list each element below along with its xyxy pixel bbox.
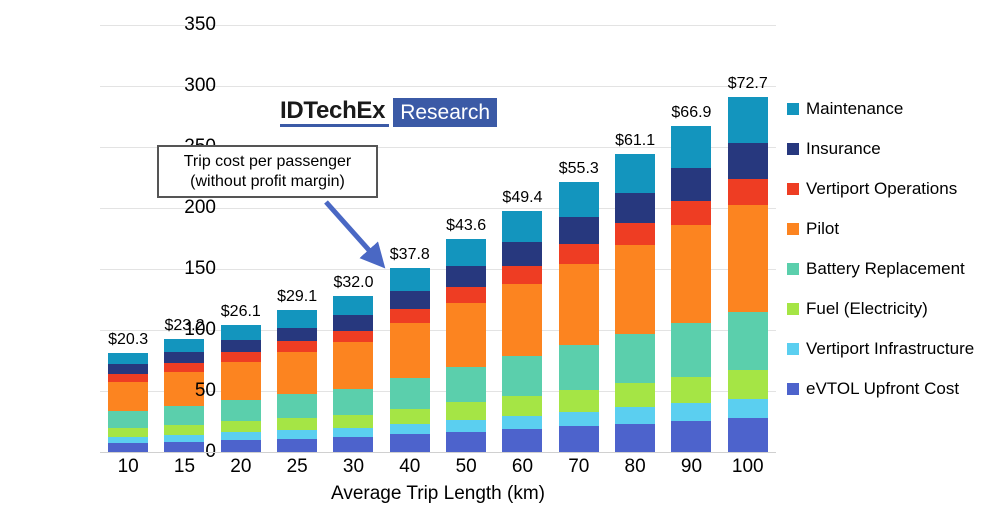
bar-segment[interactable]	[671, 377, 711, 403]
bar-segment[interactable]	[671, 168, 711, 201]
bar-segment[interactable]	[728, 143, 768, 179]
bar-column[interactable]: $55.3	[551, 25, 607, 452]
legend-swatch-icon	[787, 183, 799, 195]
bar-segment[interactable]	[728, 399, 768, 418]
stacked-bar[interactable]	[446, 239, 486, 452]
bar-segment[interactable]	[221, 352, 261, 362]
x-axis-tick-label: 50	[438, 456, 494, 478]
bar-segment[interactable]	[671, 403, 711, 421]
bar-segment[interactable]	[446, 303, 486, 367]
bar-segment[interactable]	[615, 407, 655, 423]
bar-segment[interactable]	[502, 416, 542, 429]
bar-column[interactable]: $26.1	[213, 25, 269, 452]
bar-segment[interactable]	[277, 310, 317, 327]
y-axis-tick-label: 50	[156, 380, 216, 402]
bar-value-label: $72.7	[708, 75, 788, 93]
bar-segment[interactable]	[390, 309, 430, 323]
bar-segment[interactable]	[108, 353, 148, 364]
stacked-bar[interactable]	[615, 154, 655, 452]
x-axis-tick-label: 20	[213, 456, 269, 478]
bar-segment[interactable]	[502, 396, 542, 416]
legend-item[interactable]: Battery Replacement	[787, 249, 1000, 289]
stacked-bar[interactable]	[502, 211, 542, 452]
x-axis-tick-label: 100	[720, 456, 776, 478]
y-axis-tick-label: 100	[156, 319, 216, 341]
bar-segment[interactable]	[390, 323, 430, 378]
bar-segment[interactable]	[728, 312, 768, 370]
legend-swatch-icon	[787, 223, 799, 235]
bar-segment[interactable]	[108, 411, 148, 428]
bar-segment[interactable]	[502, 356, 542, 396]
chart-legend: MaintenanceInsuranceVertiport Operations…	[787, 89, 1000, 409]
bar-segment[interactable]	[502, 266, 542, 284]
bar-segment[interactable]	[108, 364, 148, 374]
bar-segment[interactable]	[333, 437, 373, 452]
bar-column[interactable]: $49.4	[494, 25, 550, 452]
stacked-bar[interactable]	[277, 310, 317, 452]
legend-swatch-icon	[787, 143, 799, 155]
bar-segment[interactable]	[728, 179, 768, 205]
bar-segment[interactable]	[671, 201, 711, 225]
bar-segment[interactable]	[559, 264, 599, 345]
bar-segment[interactable]	[277, 394, 317, 418]
bar-segment[interactable]	[446, 287, 486, 303]
bar-segment[interactable]	[671, 126, 711, 168]
bar-segment[interactable]	[559, 217, 599, 244]
bar-segment[interactable]	[221, 400, 261, 421]
annotation-box: Trip cost per passenger (without profit …	[157, 145, 378, 198]
bar-segment[interactable]	[108, 382, 148, 412]
bar-segment[interactable]	[502, 211, 542, 242]
bar-segment[interactable]	[615, 245, 655, 334]
y-axis-tick-label: 350	[156, 14, 216, 36]
x-axis-tick-label: 80	[607, 456, 663, 478]
bar-segment[interactable]	[615, 154, 655, 193]
legend-swatch-icon	[787, 103, 799, 115]
legend-swatch-icon	[787, 303, 799, 315]
bar-segment[interactable]	[221, 362, 261, 400]
stacked-bar[interactable]	[333, 296, 373, 452]
x-axis-tick-label: 25	[269, 456, 325, 478]
bar-segment[interactable]	[502, 429, 542, 452]
bar-segment[interactable]	[615, 424, 655, 452]
bar-segment[interactable]	[671, 421, 711, 452]
x-axis-tick-label: 15	[156, 456, 212, 478]
bar-segment[interactable]	[728, 97, 768, 143]
y-axis-tick-label: 150	[156, 258, 216, 280]
bar-column[interactable]: $20.3	[100, 25, 156, 452]
x-axis-tick-label: 90	[663, 456, 719, 478]
bar-segment[interactable]	[277, 341, 317, 352]
y-axis-tick-label: 300	[156, 75, 216, 97]
bar-segment[interactable]	[221, 440, 261, 452]
x-axis-line	[100, 452, 776, 453]
legend-item[interactable]: Maintenance	[787, 89, 1000, 129]
bar-segment[interactable]	[390, 424, 430, 434]
bar-segment[interactable]	[333, 315, 373, 330]
bar-segment[interactable]	[615, 223, 655, 245]
bar-segment[interactable]	[446, 432, 486, 452]
legend-swatch-icon	[787, 263, 799, 275]
bar-segment[interactable]	[559, 390, 599, 412]
bar-segment[interactable]	[671, 225, 711, 323]
legend-label: Battery Replacement	[806, 259, 965, 279]
bar-segment[interactable]	[277, 430, 317, 438]
bar-segment[interactable]	[164, 352, 204, 363]
x-axis-tick-label: 30	[325, 456, 381, 478]
x-axis-title: Average Trip Length (km)	[100, 483, 776, 505]
bar-segment[interactable]	[108, 428, 148, 437]
annotation-line-1: Trip cost per passenger	[184, 152, 351, 172]
x-axis-tick-label: 40	[382, 456, 438, 478]
bar-segment[interactable]	[446, 266, 486, 287]
y-axis-tick-label: 200	[156, 197, 216, 219]
bar-segment[interactable]	[221, 432, 261, 440]
bar-column[interactable]: $43.6	[438, 25, 494, 452]
stacked-bar[interactable]	[728, 97, 768, 452]
bar-segment[interactable]	[221, 340, 261, 352]
bar-segment[interactable]	[164, 406, 204, 425]
bar-segment[interactable]	[502, 284, 542, 356]
legend-label: Fuel (Electricity)	[806, 299, 928, 319]
bar-segment[interactable]	[559, 412, 599, 427]
annotation-line-2: (without profit margin)	[190, 172, 345, 192]
bar-segment[interactable]	[108, 443, 148, 452]
stacked-bar[interactable]	[108, 353, 148, 452]
bar-segment[interactable]	[390, 434, 430, 452]
logo-suffix-badge: Research	[393, 98, 497, 127]
bar-segment[interactable]	[559, 244, 599, 264]
legend-label: Vertiport Operations	[806, 179, 957, 199]
bar-segment[interactable]	[164, 363, 204, 372]
legend-item[interactable]: Vertiport Operations	[787, 169, 1000, 209]
bar-segment[interactable]	[446, 367, 486, 402]
bar-column[interactable]: $29.1	[269, 25, 325, 452]
stacked-bar[interactable]	[221, 325, 261, 452]
stacked-bar[interactable]	[390, 268, 430, 452]
bar-segment[interactable]	[277, 352, 317, 394]
bar-column[interactable]: $72.7	[720, 25, 776, 452]
bar-segment[interactable]	[390, 409, 430, 424]
bar-segment[interactable]	[559, 426, 599, 452]
legend-label: Maintenance	[806, 99, 903, 119]
bar-segment[interactable]	[728, 418, 768, 452]
logo-brand-text: IDTechEx	[280, 98, 389, 127]
bar-segment[interactable]	[333, 342, 373, 389]
legend-label: eVTOL Upfront Cost	[806, 379, 959, 399]
bar-segment[interactable]	[333, 415, 373, 428]
bar-segment[interactable]	[671, 323, 711, 377]
bar-segment[interactable]	[559, 182, 599, 217]
x-axis-tick-label: 70	[551, 456, 607, 478]
legend-item[interactable]: Pilot	[787, 209, 1000, 249]
bar-segment[interactable]	[108, 374, 148, 382]
bar-segment[interactable]	[446, 402, 486, 420]
legend-label: Insurance	[806, 139, 881, 159]
bar-segment[interactable]	[559, 345, 599, 390]
bar-segment[interactable]	[502, 242, 542, 266]
stacked-bar[interactable]	[671, 126, 711, 452]
legend-swatch-icon	[787, 343, 799, 355]
bar-segment[interactable]	[277, 328, 317, 342]
legend-item[interactable]: Insurance	[787, 129, 1000, 169]
legend-item[interactable]: eVTOL Upfront Cost	[787, 369, 1000, 409]
bar-segment[interactable]	[333, 389, 373, 415]
idtechex-logo: IDTechEx Research	[280, 98, 497, 127]
stacked-bar[interactable]	[559, 182, 599, 452]
legend-label: Vertiport Infrastructure	[806, 339, 974, 359]
x-axis-tick-label: 60	[494, 456, 550, 478]
bar-segment[interactable]	[615, 334, 655, 383]
annotation-arrow-icon	[320, 196, 400, 276]
legend-item[interactable]: Fuel (Electricity)	[787, 289, 1000, 329]
x-axis-tick-label: 10	[100, 456, 156, 478]
bar-segment[interactable]	[615, 193, 655, 223]
bar-segment[interactable]	[277, 439, 317, 452]
bar-segment[interactable]	[333, 428, 373, 437]
bar-segment[interactable]	[390, 378, 430, 409]
legend-item[interactable]: Vertiport Infrastructure	[787, 329, 1000, 369]
bar-segment[interactable]	[728, 370, 768, 399]
bar-segment[interactable]	[615, 383, 655, 407]
bar-segment[interactable]	[333, 296, 373, 316]
bar-segment[interactable]	[446, 239, 486, 266]
legend-label: Pilot	[806, 219, 839, 239]
bar-segment[interactable]	[164, 425, 204, 435]
bar-segment[interactable]	[221, 325, 261, 340]
bar-segment[interactable]	[446, 420, 486, 432]
bar-segment[interactable]	[728, 205, 768, 312]
bar-segment[interactable]	[221, 421, 261, 432]
bar-segment[interactable]	[277, 418, 317, 430]
bar-segment[interactable]	[390, 291, 430, 309]
chart-container: Trip Cost ($) $20.3$23.2$26.1$29.1$32.0$…	[0, 0, 1000, 514]
bar-column[interactable]: $61.1	[607, 25, 663, 452]
bar-segment[interactable]	[333, 331, 373, 343]
x-axis-ticks: 1015202530405060708090100	[100, 456, 776, 478]
legend-swatch-icon	[787, 383, 799, 395]
